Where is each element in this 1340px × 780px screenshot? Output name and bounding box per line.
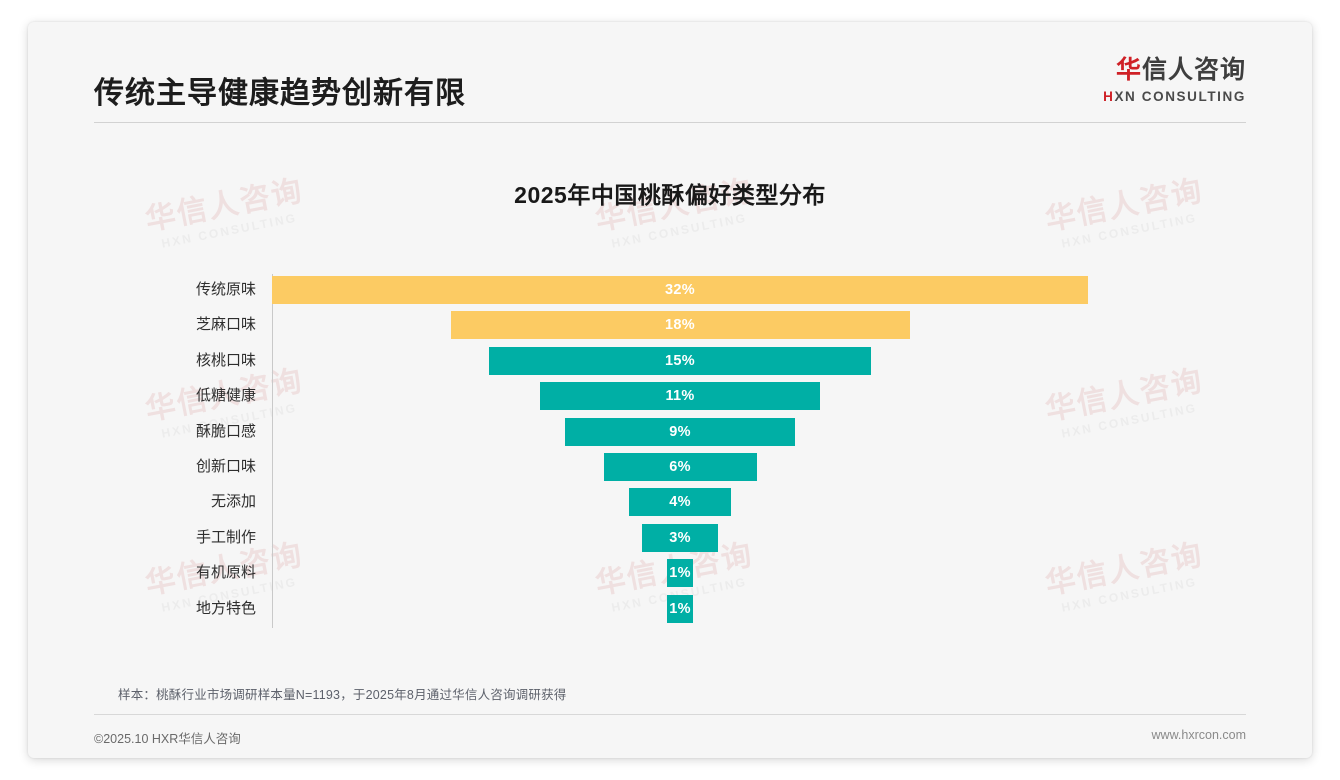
funnel-row: 手工制作3% bbox=[28, 520, 1312, 555]
funnel-row: 传统原味32% bbox=[28, 272, 1312, 307]
funnel-bar[interactable]: 9% bbox=[565, 418, 795, 446]
funnel-rows: 传统原味32%芝麻口味18%核桃口味15%低糖健康11%酥脆口感9%创新口味6%… bbox=[28, 272, 1312, 626]
logo-h-mark-icon: H bbox=[1103, 89, 1114, 104]
slide-canvas: 华信人咨询 HXN CONSULTING 华信人咨询 HXN CONSULTIN… bbox=[28, 22, 1312, 758]
funnel-bar-value: 32% bbox=[665, 282, 695, 298]
funnel-row: 酥脆口感9% bbox=[28, 414, 1312, 449]
funnel-bar-track: 18% bbox=[28, 307, 1312, 342]
logo-english-text: HXN CONSULTING bbox=[1103, 90, 1246, 104]
funnel-chart-plot: 传统原味32%芝麻口味18%核桃口味15%低糖健康11%酥脆口感9%创新口味6%… bbox=[28, 272, 1312, 642]
funnel-bar-track: 11% bbox=[28, 378, 1312, 413]
page-title: 传统主导健康趋势创新有限 bbox=[94, 68, 466, 112]
chart-footnote: 样本：桃酥行业市场调研样本量N=1193，于2025年8月通过华信人咨询调研获得 bbox=[118, 684, 566, 703]
logo-english-rest: XN CONSULTING bbox=[1114, 89, 1246, 104]
funnel-bar-track: 15% bbox=[28, 343, 1312, 378]
funnel-bar[interactable]: 32% bbox=[272, 276, 1088, 304]
funnel-bar[interactable]: 11% bbox=[540, 382, 821, 410]
funnel-bar[interactable]: 15% bbox=[489, 347, 872, 375]
funnel-bar[interactable]: 1% bbox=[667, 559, 693, 587]
funnel-bar[interactable]: 1% bbox=[667, 595, 693, 623]
funnel-bar-value: 1% bbox=[669, 601, 691, 617]
funnel-bar-track: 32% bbox=[28, 272, 1312, 307]
funnel-bar-track: 9% bbox=[28, 414, 1312, 449]
funnel-bar[interactable]: 3% bbox=[642, 524, 719, 552]
funnel-bar-track: 4% bbox=[28, 484, 1312, 519]
funnel-bar-value: 4% bbox=[669, 494, 691, 510]
website-url: www.hxrcon.com bbox=[1152, 728, 1246, 742]
header-divider bbox=[94, 122, 1246, 123]
funnel-bar-value: 3% bbox=[669, 530, 691, 546]
logo-chinese-text: 华信人咨询 bbox=[1103, 58, 1246, 83]
funnel-bar-track: 1% bbox=[28, 591, 1312, 626]
logo-rest-chars: 信人咨询 bbox=[1142, 56, 1246, 84]
funnel-bar[interactable]: 6% bbox=[604, 453, 757, 481]
funnel-row: 低糖健康11% bbox=[28, 378, 1312, 413]
funnel-row: 无添加4% bbox=[28, 484, 1312, 519]
chart-container: 2025年中国桃酥偏好类型分布 传统原味32%芝麻口味18%核桃口味15%低糖健… bbox=[28, 126, 1312, 674]
chart-title: 2025年中国桃酥偏好类型分布 bbox=[28, 176, 1312, 210]
funnel-bar-track: 6% bbox=[28, 449, 1312, 484]
copyright-text: ©2025.10 HXR华信人咨询 bbox=[94, 728, 241, 747]
funnel-row: 核桃口味15% bbox=[28, 343, 1312, 378]
funnel-bar-value: 18% bbox=[665, 317, 695, 333]
funnel-bar[interactable]: 4% bbox=[629, 488, 731, 516]
funnel-row: 芝麻口味18% bbox=[28, 307, 1312, 342]
funnel-bar-value: 15% bbox=[665, 353, 695, 369]
funnel-bar-value: 9% bbox=[669, 424, 691, 440]
slide-header: 传统主导健康趋势创新有限 华信人咨询 HXN CONSULTING bbox=[28, 22, 1312, 126]
company-logo: 华信人咨询 HXN CONSULTING bbox=[1103, 58, 1246, 104]
funnel-row: 创新口味6% bbox=[28, 449, 1312, 484]
funnel-bar-value: 1% bbox=[669, 565, 691, 581]
funnel-row: 地方特色1% bbox=[28, 591, 1312, 626]
funnel-bar-track: 3% bbox=[28, 520, 1312, 555]
funnel-bar[interactable]: 18% bbox=[451, 311, 910, 339]
funnel-row: 有机原料1% bbox=[28, 555, 1312, 590]
funnel-bar-track: 1% bbox=[28, 555, 1312, 590]
logo-accent-char: 华 bbox=[1116, 56, 1142, 84]
slide-footer: ©2025.10 HXR华信人咨询 www.hxrcon.com bbox=[28, 714, 1312, 758]
funnel-bar-value: 11% bbox=[665, 388, 694, 404]
funnel-bar-value: 6% bbox=[669, 459, 691, 475]
